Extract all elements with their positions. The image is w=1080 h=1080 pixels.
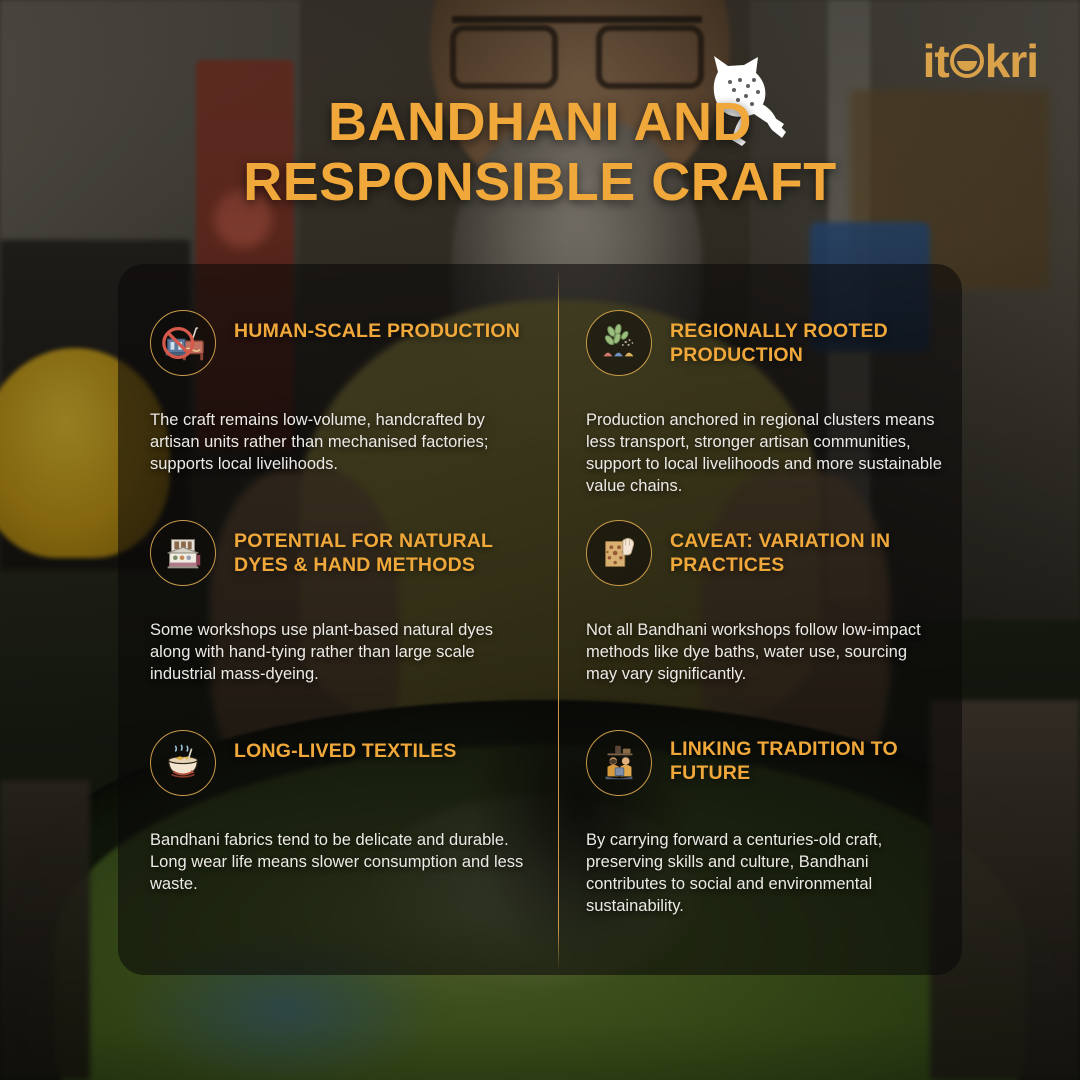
logo-text-it: it	[923, 38, 949, 84]
page-title: BANDHANI AND RESPONSIBLE CRAFT	[0, 92, 1080, 213]
title-line-2: RESPONSIBLE CRAFT	[0, 152, 1080, 212]
card-linking-tradition-to-future: LINKING TRADITION TO FUTURE By carrying …	[558, 712, 962, 942]
card-title: LONG-LIVED TEXTILES	[234, 740, 457, 764]
card-header: REGIONALLY ROOTED PRODUCTION	[586, 308, 942, 376]
artisan-workshop-building-icon	[150, 520, 216, 586]
card-header: LINKING TRADITION TO FUTURE	[586, 728, 942, 796]
cards-grid: HUMAN-SCALE PRODUCTION The craft remains…	[118, 264, 962, 975]
card-header: HUMAN-SCALE PRODUCTION	[150, 308, 528, 376]
card-body: Not all Bandhani workshops follow low-im…	[586, 620, 942, 686]
two-artisans-working-icon	[586, 730, 652, 796]
card-regionally-rooted-production: REGIONALLY ROOTED PRODUCTION Production …	[558, 292, 962, 502]
card-body: Production anchored in regional clusters…	[586, 410, 942, 498]
card-title: HUMAN-SCALE PRODUCTION	[234, 320, 520, 344]
card-title: REGIONALLY ROOTED PRODUCTION	[670, 320, 942, 368]
card-body: Some workshops use plant-based natural d…	[150, 620, 528, 686]
card-header: LONG-LIVED TEXTILES	[150, 728, 528, 796]
title-line-1: BANDHANI AND	[0, 92, 1080, 152]
card-title: LINKING TRADITION TO FUTURE	[670, 738, 942, 786]
card-header: CAVEAT: VARIATION IN PRACTICES	[586, 518, 942, 586]
hand-holding-bandhani-fabric-icon	[586, 520, 652, 586]
card-title: POTENTIAL FOR NATURAL DYES & HAND METHOD…	[234, 530, 528, 578]
card-long-lived-textiles: LONG-LIVED TEXTILES Bandhani fabrics ten…	[118, 712, 558, 942]
logo-text-kri: kri	[985, 38, 1038, 84]
steaming-dye-pot-icon	[150, 730, 216, 796]
itokri-logo[interactable]: itkri	[923, 38, 1038, 84]
content-panel: HUMAN-SCALE PRODUCTION The craft remains…	[118, 264, 962, 975]
card-caveat-variation-in-practices: CAVEAT: VARIATION IN PRACTICES Not all B…	[558, 502, 962, 712]
card-body: By carrying forward a centuries-old craf…	[586, 830, 942, 918]
card-title: CAVEAT: VARIATION IN PRACTICES	[670, 530, 942, 578]
card-human-scale-production: HUMAN-SCALE PRODUCTION The craft remains…	[118, 292, 558, 502]
no-factory-machine-icon	[150, 310, 216, 376]
header: itkri BANDHANI AND RESPONSIBLE CRAFT	[0, 0, 1080, 264]
card-body: The craft remains low-volume, handcrafte…	[150, 410, 528, 476]
card-body: Bandhani fabrics tend to be delicate and…	[150, 830, 528, 896]
logo-o-mark	[950, 44, 984, 78]
card-header: POTENTIAL FOR NATURAL DYES & HAND METHOD…	[150, 518, 528, 586]
card-potential-for-natural-dyes: POTENTIAL FOR NATURAL DYES & HAND METHOD…	[118, 502, 558, 712]
natural-dye-pigments-icon	[586, 310, 652, 376]
